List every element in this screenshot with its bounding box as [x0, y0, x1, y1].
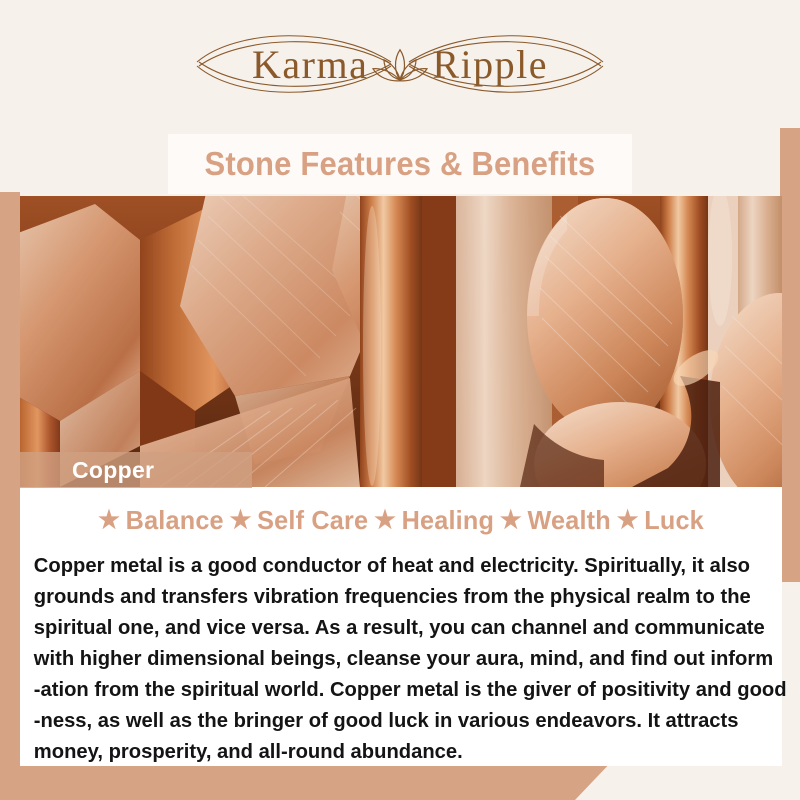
benefits-list: ★ Balance ★ Self Care ★ Healing ★ Wealth… — [31, 487, 770, 536]
star-icon: ★ — [230, 508, 252, 533]
description-line: with higher dimensional beings, cleanse … — [34, 643, 761, 674]
benefit-item-luck: Luck — [644, 505, 704, 536]
star-icon: ★ — [500, 508, 522, 533]
star-icon: ★ — [617, 508, 639, 533]
infographic-card: Karma Ripple Stone Features & Benefits — [0, 0, 800, 800]
description-line: Copper metal is a good conductor of heat… — [34, 550, 761, 581]
benefit-item-balance: Balance — [126, 505, 224, 536]
section-title-band: Stone Features & Benefits — [168, 134, 632, 194]
benefit-item-healing: Healing — [402, 505, 494, 536]
brand-logo: Karma Ripple — [185, 22, 615, 106]
copper-bars-photo — [20, 196, 782, 487]
description-line: spiritual one, and vice versa. As a resu… — [34, 612, 761, 643]
description-line: money, prosperity, and all-round abundan… — [34, 736, 761, 767]
page-title: Stone Features & Benefits — [205, 145, 596, 183]
photo-caption-bar: Copper — [20, 452, 252, 488]
star-icon: ★ — [374, 508, 396, 533]
description-line: -ness, as well as the bringer of good lu… — [34, 705, 761, 736]
star-icon: ★ — [98, 508, 120, 533]
brand-name-right: Ripple — [432, 41, 548, 88]
copper-bars-illustration — [20, 196, 782, 487]
photo-caption-text: Copper — [20, 457, 154, 484]
description-line: grounds and transfers vibration frequenc… — [34, 581, 761, 612]
frame-left-accent — [0, 192, 20, 800]
content-panel: ★ Balance ★ Self Care ★ Healing ★ Wealth… — [20, 487, 782, 766]
description-line: -ation from the spiritual world. Copper … — [34, 674, 761, 705]
description-text: Copper metal is a good conductor of heat… — [20, 536, 771, 767]
lotus-icon — [369, 44, 431, 88]
benefit-item-self-care: Self Care — [257, 505, 368, 536]
benefit-item-wealth: Wealth — [527, 505, 610, 536]
brand-name-left: Karma — [252, 41, 368, 88]
header: Karma Ripple — [0, 0, 800, 128]
